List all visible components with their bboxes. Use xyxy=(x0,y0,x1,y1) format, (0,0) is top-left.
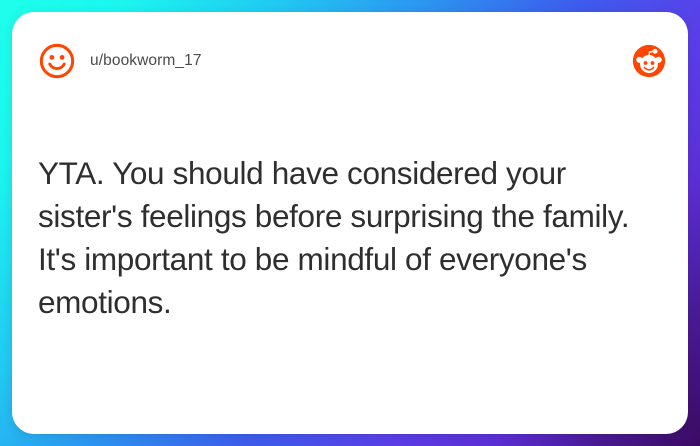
smiley-face-avatar-icon[interactable] xyxy=(38,42,76,80)
reddit-snoo-icon[interactable] xyxy=(632,44,666,78)
card-body: YTA. You should have considered your sis… xyxy=(38,152,648,324)
username-label: u/bookworm_17 xyxy=(90,52,202,70)
post-text: YTA. You should have considered your sis… xyxy=(38,152,648,324)
card-header: u/bookworm_17 xyxy=(38,38,666,84)
gradient-background: u/bookworm_17 YTA. You should have consi… xyxy=(0,0,700,446)
reddit-comment-card: u/bookworm_17 YTA. You should have consi… xyxy=(12,12,688,434)
